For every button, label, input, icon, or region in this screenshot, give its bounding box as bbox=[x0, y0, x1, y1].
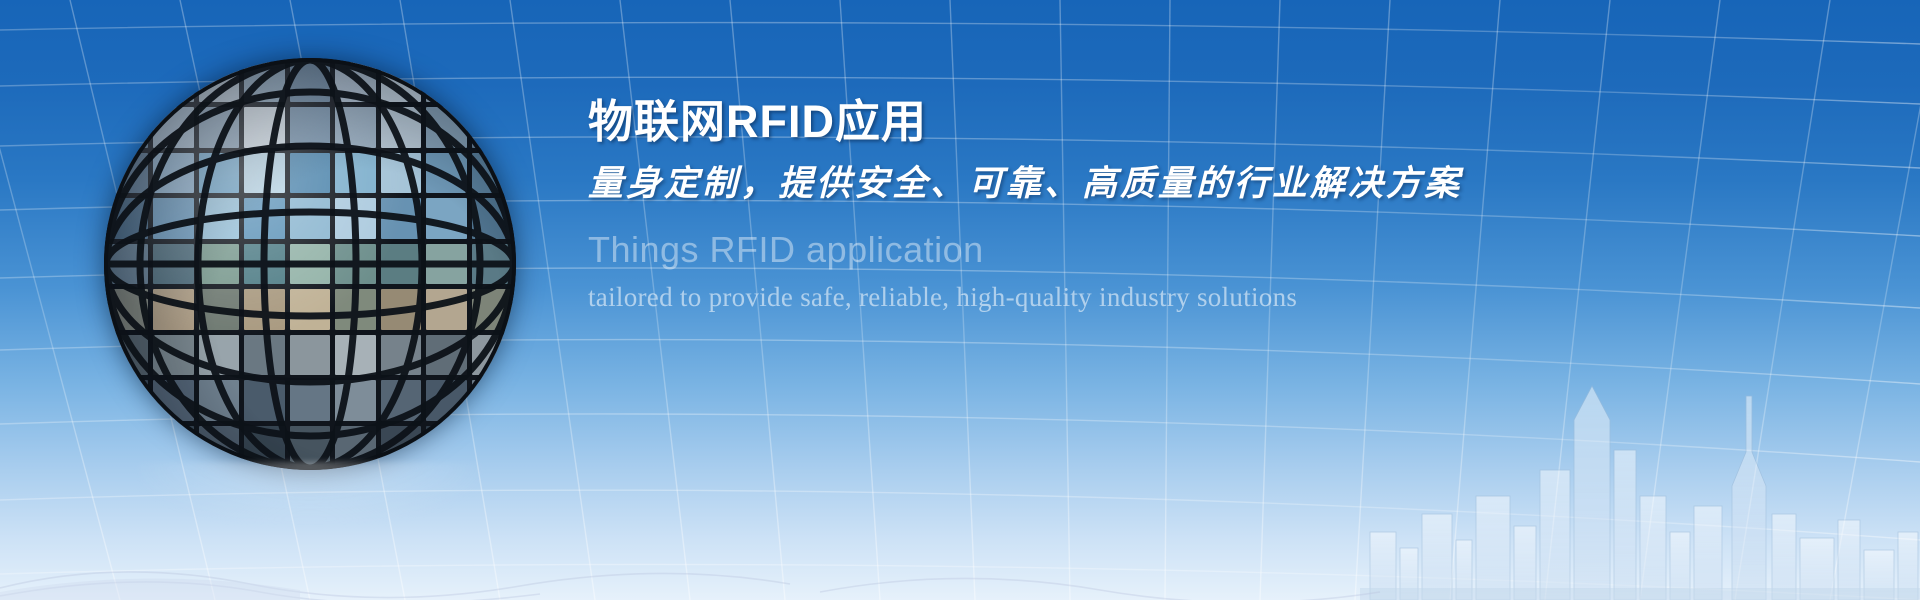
globe-tile bbox=[472, 62, 512, 102]
globe-tile bbox=[335, 107, 375, 147]
globe-tile bbox=[108, 198, 148, 238]
globe-tile bbox=[108, 62, 148, 102]
globe-tile bbox=[472, 335, 512, 375]
globe-tile-grid bbox=[104, 58, 516, 470]
globe-tile bbox=[153, 198, 193, 238]
globe-tile bbox=[290, 335, 330, 375]
subtitle-english: Things RFID application bbox=[588, 228, 1838, 271]
globe-tile bbox=[381, 62, 421, 102]
globe-tile bbox=[472, 426, 512, 466]
rfid-hero-banner: 物联网RFID应用 量身定制，提供安全、可靠、高质量的行业解决方案 Things… bbox=[0, 0, 1920, 600]
globe-tile bbox=[472, 380, 512, 420]
globe-tile bbox=[335, 335, 375, 375]
globe-tile bbox=[153, 244, 193, 284]
globe-tile bbox=[199, 380, 239, 420]
globe-tile bbox=[381, 244, 421, 284]
globe-tile bbox=[108, 153, 148, 193]
globe-tile bbox=[244, 107, 284, 147]
globe-tile bbox=[290, 244, 330, 284]
globe-tile bbox=[381, 426, 421, 466]
globe-tile bbox=[244, 335, 284, 375]
globe-tile bbox=[199, 153, 239, 193]
globe-tile bbox=[290, 62, 330, 102]
globe-tile bbox=[108, 107, 148, 147]
globe-tile bbox=[472, 244, 512, 284]
globe-tile bbox=[199, 107, 239, 147]
tagline-english: tailored to provide safe, reliable, high… bbox=[588, 281, 1838, 315]
globe-tile bbox=[335, 198, 375, 238]
globe-tile bbox=[244, 380, 284, 420]
banner-copy: 物联网RFID应用 量身定制，提供安全、可靠、高质量的行业解决方案 Things… bbox=[588, 96, 1838, 314]
globe-tile bbox=[472, 107, 512, 147]
globe-tile bbox=[381, 380, 421, 420]
globe-tile bbox=[381, 198, 421, 238]
globe-tile bbox=[244, 426, 284, 466]
globe-tile bbox=[108, 380, 148, 420]
globe-tile bbox=[335, 153, 375, 193]
globe-tile bbox=[153, 107, 193, 147]
globe-tile bbox=[153, 335, 193, 375]
globe-tile bbox=[290, 426, 330, 466]
globe-tile bbox=[426, 335, 466, 375]
globe-tile bbox=[472, 198, 512, 238]
globe-tile bbox=[426, 107, 466, 147]
globe-tile bbox=[244, 198, 284, 238]
globe-tile bbox=[335, 289, 375, 329]
globe-tile bbox=[108, 244, 148, 284]
globe-tile bbox=[426, 62, 466, 102]
globe-tile bbox=[472, 289, 512, 329]
globe-tile bbox=[244, 244, 284, 284]
globe-tile bbox=[426, 153, 466, 193]
globe-tile bbox=[335, 244, 375, 284]
globe-tile bbox=[108, 426, 148, 466]
globe-tile bbox=[153, 62, 193, 102]
globe-tile bbox=[199, 426, 239, 466]
globe-tile bbox=[153, 153, 193, 193]
globe-tile bbox=[244, 153, 284, 193]
globe-tile bbox=[381, 107, 421, 147]
globe-reflection bbox=[138, 462, 482, 524]
globe-tile bbox=[199, 289, 239, 329]
globe-tile bbox=[199, 244, 239, 284]
globe-tile bbox=[244, 62, 284, 102]
globe-tile bbox=[244, 289, 284, 329]
globe-tile bbox=[335, 62, 375, 102]
globe-sphere bbox=[104, 58, 516, 470]
city-skyline-silhouette bbox=[1360, 300, 1920, 600]
globe-tile bbox=[153, 289, 193, 329]
globe-tile bbox=[472, 153, 512, 193]
globe-tile bbox=[290, 107, 330, 147]
globe-tile bbox=[199, 335, 239, 375]
globe-tile bbox=[153, 426, 193, 466]
globe-tile bbox=[426, 289, 466, 329]
globe-tile bbox=[290, 153, 330, 193]
globe-tile bbox=[290, 289, 330, 329]
globe-tile bbox=[426, 198, 466, 238]
globe-tile bbox=[290, 198, 330, 238]
globe-tile bbox=[426, 380, 466, 420]
globe-tile bbox=[426, 244, 466, 284]
globe-tile bbox=[335, 426, 375, 466]
globe-tile bbox=[335, 380, 375, 420]
page-title: 物联网RFID应用 bbox=[588, 96, 1838, 148]
globe-tile bbox=[381, 153, 421, 193]
globe-tile bbox=[199, 198, 239, 238]
globe-tile bbox=[381, 289, 421, 329]
bottom-wave-decoration bbox=[0, 540, 1920, 600]
globe-tile bbox=[381, 335, 421, 375]
globe-tile bbox=[290, 380, 330, 420]
globe-tile bbox=[199, 62, 239, 102]
globe-tile bbox=[426, 426, 466, 466]
globe-tile bbox=[108, 289, 148, 329]
photo-mosaic-globe bbox=[104, 58, 516, 478]
subtitle-chinese: 量身定制，提供安全、可靠、高质量的行业解决方案 bbox=[588, 162, 1838, 206]
globe-tile bbox=[108, 335, 148, 375]
globe-tile bbox=[153, 380, 193, 420]
